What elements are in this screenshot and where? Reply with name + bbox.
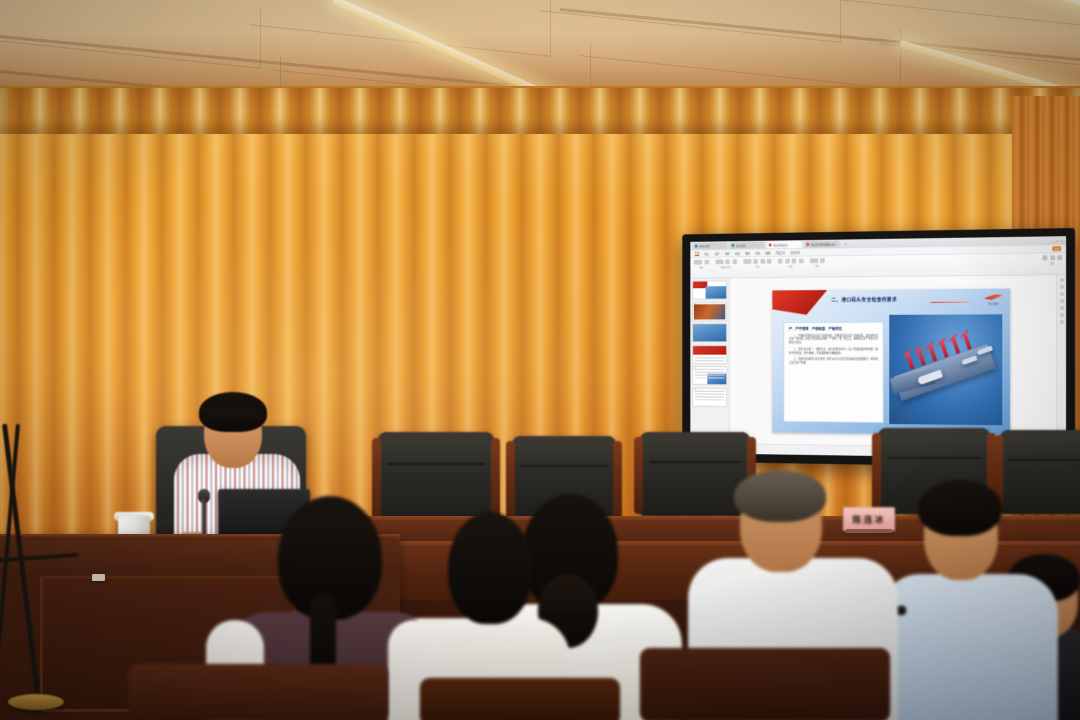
rail-tool-icon[interactable] <box>1060 278 1064 282</box>
foreground-chair-back[interactable] <box>640 648 890 720</box>
slide-logo: 港口集团 <box>983 294 1004 307</box>
slide-red-flag-graphic <box>772 290 827 315</box>
app-tab-active[interactable]: 港口码头安全 <box>767 241 802 248</box>
ribbon-tab-review[interactable]: 审阅 <box>755 251 760 255</box>
ribbon-tab-insert[interactable]: 插入 <box>705 252 710 256</box>
thumb-index: 26 <box>694 303 696 305</box>
rail-tool-icon[interactable] <box>1060 299 1064 303</box>
presentation-icon <box>769 244 772 247</box>
ribbon-group-font[interactable]: 字体 <box>743 259 772 269</box>
app-workspace[interactable]: 25 26 27 28 <box>690 275 1066 448</box>
app-tab-label: WPS 文字 <box>699 244 710 248</box>
conference-room-photo: WPS 文字 安全培训 港口码头安全 港口安全检查要求.pptx + — <box>0 0 1080 720</box>
ribbon-group-label: 形状 <box>815 264 819 268</box>
shapes-icon[interactable] <box>810 258 825 263</box>
slide-thumbnail[interactable]: 28 <box>692 345 727 364</box>
ribbon-group-paragraph[interactable]: 段落 <box>778 258 803 268</box>
window-controls[interactable]: — □ × <box>1051 239 1063 243</box>
presentation-icon <box>806 243 809 246</box>
maximize-icon[interactable]: □ <box>1057 239 1059 243</box>
rail-tool-icon[interactable] <box>1060 313 1064 317</box>
slide-paragraph: 二、坚持“安全第一、预防为主、综合治理”的方针，深入开展隐患排查治理，做到“查大… <box>789 348 878 355</box>
ribbon-tab-slideshow[interactable]: 放映 <box>745 251 750 255</box>
ribbon-group-label: 粘贴 <box>699 265 703 269</box>
ribbon-group-label: 查找 <box>1050 261 1054 265</box>
foreground-chair-back[interactable] <box>420 678 620 720</box>
logo-name: 港口集团 <box>988 301 998 305</box>
display-screen[interactable]: WPS 文字 安全培训 港口码头安全 港口安全检查要求.pptx + — <box>690 236 1066 459</box>
tripod-base <box>8 694 64 710</box>
presenter-hair <box>199 392 267 432</box>
attendee-hair <box>918 480 1002 536</box>
app-tab-label: 港口码头安全 <box>773 243 787 247</box>
thumb-index: 27 <box>694 325 696 327</box>
foreground-chair-back[interactable] <box>128 664 388 720</box>
port-crane-icon <box>963 334 972 350</box>
slide-paragraph: 一、严格执行国家安全生产法律法规，全面落实安全生产主体责任，建立健全安全生产责任… <box>789 334 878 345</box>
current-slide[interactable]: 二、港口码头安全检查的要求 港口集团 严、严守规章、严细检查、严格责任 一、严格… <box>772 288 1010 435</box>
port-crane-icon <box>929 345 938 361</box>
attendee-hair <box>448 512 532 624</box>
app-tab-label: 港口安全检查要求.pptx <box>811 242 835 246</box>
attendee-right <box>896 486 1046 720</box>
close-icon[interactable]: × <box>1061 239 1063 243</box>
rail-tool-icon[interactable] <box>1060 320 1064 324</box>
slide-paragraph: 三、强化应急演练与安全培训，提升从业人员安全意识和应急处置能力，筑牢港口安全生产… <box>789 358 878 365</box>
slide-title: 二、港口码头安全检查的要求 <box>831 296 897 303</box>
new-tab-icon[interactable]: + <box>844 241 846 246</box>
attendee-hair <box>734 470 826 522</box>
slide-textbox[interactable]: 严、严守规章、严细检查、严格责任 一、严格执行国家安全生产法律法规，全面落实安全… <box>783 321 883 422</box>
ribbon-group-shapes[interactable]: 形状 <box>810 258 825 268</box>
port-crane-icon <box>906 353 915 369</box>
slide-port-photo <box>889 314 1002 425</box>
curtain-header-rail <box>0 88 1080 134</box>
font-icon[interactable] <box>743 259 772 264</box>
slide-side-rail[interactable] <box>1056 275 1066 448</box>
slide-thumbnail[interactable]: 29 <box>692 366 727 385</box>
ribbon-tab-transitions[interactable]: 切换 <box>725 251 730 255</box>
ribbon-tab-home[interactable]: 开始 <box>695 251 700 256</box>
slide-canvas-area[interactable]: 二、港口码头安全检查的要求 港口集团 严、严守规章、严细检查、严格责任 一、严格… <box>730 275 1056 448</box>
slide-title-underline <box>931 301 969 303</box>
ceiling-tile <box>580 0 901 90</box>
app-tab[interactable]: 安全培训 <box>730 242 764 249</box>
slide-thumbnail[interactable]: 25 <box>692 280 727 299</box>
paragraph-icon[interactable] <box>778 258 803 263</box>
rail-tool-icon[interactable] <box>1060 292 1064 296</box>
ribbon-tab-animations[interactable]: 动画 <box>735 251 740 255</box>
ribbon-group-label: 字体 <box>755 265 759 269</box>
ribbon-tab-design[interactable]: 设计 <box>715 251 720 255</box>
attendee-torso <box>880 574 1058 720</box>
rostrum-switch[interactable] <box>92 574 105 581</box>
slide-thumbnail[interactable]: 30 <box>692 387 727 406</box>
port-crane-icon <box>952 337 961 353</box>
ribbon-group-new-slide[interactable]: 新建幻灯片 <box>715 259 737 269</box>
app-tab-label: 安全培训 <box>736 243 745 247</box>
slide-thumbnail-panel[interactable]: 25 26 27 28 <box>690 278 729 443</box>
minimize-icon[interactable]: — <box>1051 239 1054 243</box>
ribbon-tab-member[interactable]: 会员专享 <box>791 250 801 254</box>
collaborate-button[interactable]: 协作 <box>1052 246 1061 251</box>
app-tab[interactable]: WPS 文字 <box>693 242 727 249</box>
new-slide-icon[interactable] <box>715 259 737 264</box>
ribbon-right-actions[interactable]: 协作 <box>1052 246 1061 251</box>
ribbon-group-label: 新建幻灯片 <box>721 265 731 269</box>
search-icon[interactable] <box>1042 255 1062 260</box>
slide-textbox-heading: 严、严守规章、严细检查、严格责任 <box>789 326 878 331</box>
document-icon <box>732 244 735 247</box>
rail-tool-icon[interactable] <box>1060 306 1064 310</box>
app-tab[interactable]: 港口安全检查要求.pptx <box>804 241 839 248</box>
paste-icon[interactable] <box>694 260 709 265</box>
ribbon-group-paste[interactable]: 粘贴 <box>694 260 709 270</box>
ribbon-group-label: 段落 <box>788 264 792 268</box>
ribbon-tab-developer[interactable]: 开发工具 <box>776 251 785 255</box>
ceiling <box>0 0 1080 96</box>
slide-thumbnail[interactable]: 26 <box>692 302 727 321</box>
ribbon-group-find[interactable]: 查找 <box>1042 255 1062 265</box>
slide-section-number: 二、 <box>831 297 841 303</box>
logo-swoosh-icon <box>984 294 1003 300</box>
slide-thumbnail-active[interactable]: 27 <box>692 323 727 342</box>
ribbon-tab-view[interactable]: 视图 <box>765 251 770 255</box>
thumb-index: 28 <box>694 346 696 348</box>
thumb-index: 30 <box>694 389 696 391</box>
document-icon <box>695 245 698 248</box>
rail-tool-icon[interactable] <box>1060 285 1064 289</box>
port-crane-icon <box>917 349 926 365</box>
thumb-index: 29 <box>694 367 696 369</box>
slide-title-text: 港口码头安全检查的要求 <box>841 297 897 303</box>
port-crane-icon <box>940 341 949 357</box>
